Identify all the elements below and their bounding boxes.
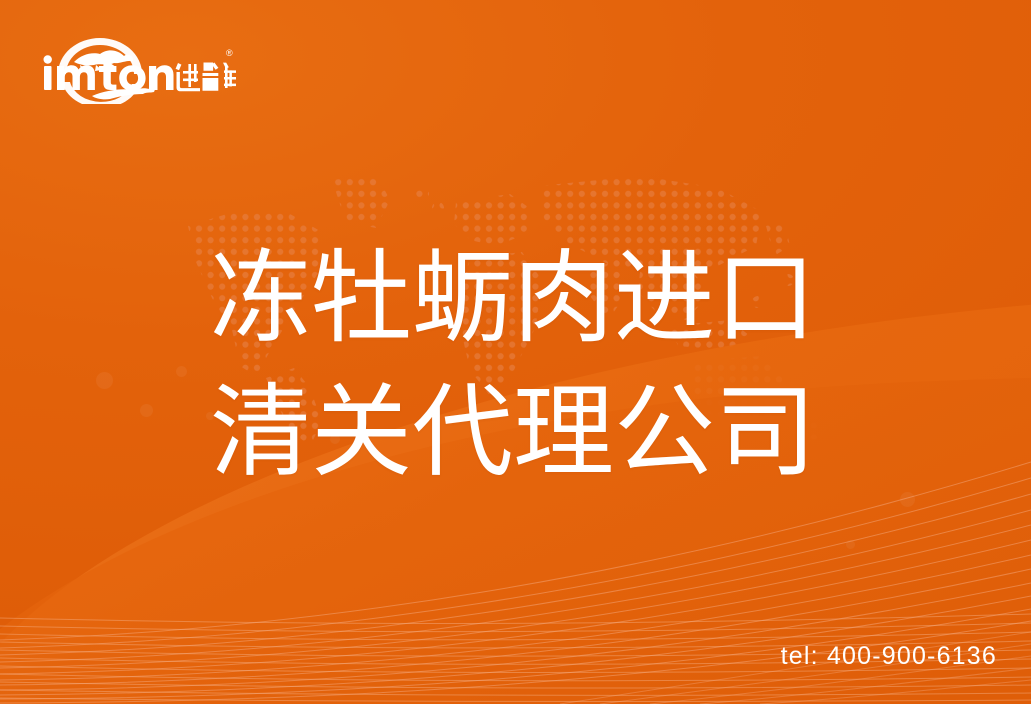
page-title: 冻牡蛎肉进口 清关代理公司 (210, 232, 870, 500)
telephone-number[interactable]: tel: 400-900-6136 (781, 642, 997, 671)
imton-logo[interactable]: ® (36, 32, 236, 104)
headline-line-2: 清关代理公司 (210, 366, 870, 500)
logo-chinese-name (176, 63, 236, 92)
registered-trademark-icon: ® (226, 48, 233, 58)
headline-line-1: 冻牡蛎肉进口 (210, 232, 870, 366)
promo-banner: ® 冻牡蛎肉进口 清关代理公司 tel: 400-900-6136 (0, 0, 1031, 704)
